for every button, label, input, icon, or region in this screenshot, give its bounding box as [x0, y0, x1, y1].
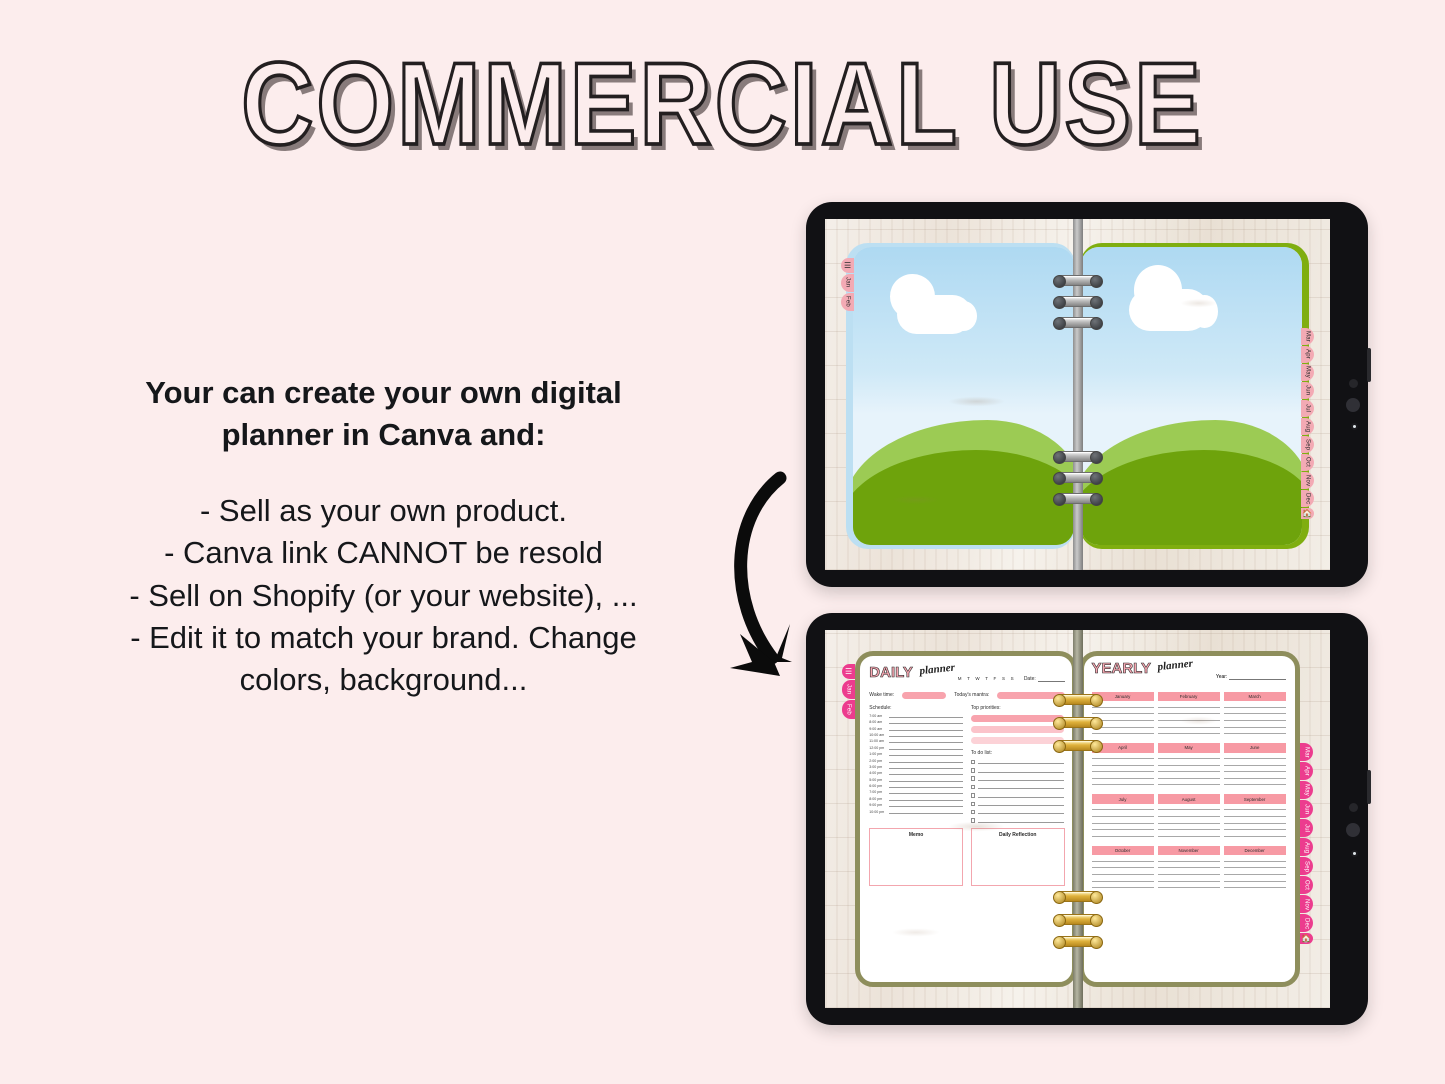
- schedule-line[interactable]: [889, 738, 963, 743]
- todo-row[interactable]: [971, 792, 1065, 797]
- month-line[interactable]: [1224, 875, 1286, 882]
- tab-jun[interactable]: Jun: [1301, 382, 1314, 399]
- copy-bullet-3: - Sell on Shopify (or your website), ...: [96, 575, 671, 617]
- todo-checkbox[interactable]: [971, 768, 976, 773]
- weekday-initials: M T W T F S S: [958, 665, 1016, 681]
- tab-nov[interactable]: Nov: [1301, 472, 1314, 489]
- month-line[interactable]: [1224, 779, 1286, 786]
- todo-line[interactable]: [978, 784, 1064, 789]
- schedule-row[interactable]: 10:00 am: [869, 732, 963, 737]
- month-line[interactable]: [1224, 772, 1286, 779]
- binder-ring: [1056, 740, 1100, 751]
- date-input-line[interactable]: [1038, 675, 1065, 682]
- month-line[interactable]: [1224, 830, 1286, 837]
- todo-checkbox[interactable]: [971, 818, 976, 823]
- tab-mar[interactable]: Mar: [1300, 743, 1313, 761]
- schedule-time: 11:00 am: [869, 739, 886, 743]
- memo-box[interactable]: Memo: [869, 828, 963, 886]
- tab-jul[interactable]: Jul: [1301, 400, 1314, 417]
- todo-row[interactable]: [971, 759, 1065, 764]
- month-line[interactable]: [1092, 824, 1154, 831]
- cover-page-right: [1081, 247, 1303, 545]
- binder-ring: [1056, 296, 1100, 307]
- month-line[interactable]: [1092, 882, 1154, 889]
- month-header: June: [1224, 743, 1286, 752]
- month-line[interactable]: [1158, 779, 1220, 786]
- copy-spacer: [96, 456, 671, 490]
- month-line[interactable]: [1224, 817, 1286, 824]
- planner-inner-spread: DAILY planner M T W T F S S Date: Wake t…: [825, 630, 1330, 1008]
- month-line[interactable]: [1092, 753, 1154, 760]
- month-header: December: [1224, 846, 1286, 855]
- schedule-time: 9:00 am: [869, 727, 886, 731]
- month-line[interactable]: [1224, 701, 1286, 708]
- month-line[interactable]: [1092, 817, 1154, 824]
- wake-and-mantra-row: Wake time: Today's mantra:: [869, 692, 1064, 699]
- yearly-wordmark: YEARLY planner: [1092, 661, 1188, 676]
- binder-ring: [1056, 891, 1100, 902]
- schedule-time: 7:00 pm: [869, 790, 886, 794]
- month-tabs-right-bottom[interactable]: Mar Apr May Jun Jul Aug Sep Oct Nov Dec …: [1300, 743, 1313, 944]
- copy-bullet-1: - Sell as your own product.: [96, 490, 671, 532]
- month-line[interactable]: [1158, 714, 1220, 721]
- schedule-time: 2:00 pm: [869, 759, 886, 763]
- binder-ring: [1056, 694, 1100, 705]
- month-line[interactable]: [1158, 708, 1220, 715]
- schedule-row[interactable]: 10:00 pm: [869, 808, 963, 813]
- month-line[interactable]: [1158, 728, 1220, 735]
- date-field[interactable]: Date:: [1024, 665, 1065, 682]
- month-header: March: [1224, 692, 1286, 701]
- led-indicator-top: [1351, 423, 1358, 430]
- tab-apr[interactable]: Apr: [1301, 346, 1314, 363]
- schedule-row[interactable]: 8:00 am: [869, 719, 963, 724]
- page-title: COMMERCIAL USE: [0, 38, 1445, 172]
- month-line[interactable]: [1092, 855, 1154, 862]
- tab-jun[interactable]: Jun: [1300, 800, 1313, 818]
- month-line[interactable]: [1224, 862, 1286, 869]
- month-line[interactable]: [1224, 753, 1286, 760]
- binder-ring: [1056, 493, 1100, 504]
- month-line[interactable]: [1224, 759, 1286, 766]
- schedule-time: 3:00 pm: [869, 765, 886, 769]
- todo-line[interactable]: [978, 818, 1064, 823]
- month-line[interactable]: [1158, 875, 1220, 882]
- todo-line[interactable]: [978, 767, 1064, 772]
- sensor-dot-top: [1349, 379, 1358, 388]
- priority-input[interactable]: [971, 715, 1065, 722]
- year-label: Year:: [1216, 674, 1228, 680]
- todo-line[interactable]: [978, 801, 1064, 806]
- binder-ring: [1056, 275, 1100, 286]
- schedule-time: 7:00 am: [869, 714, 886, 718]
- month-line[interactable]: [1092, 810, 1154, 817]
- month-line[interactable]: [1158, 766, 1220, 773]
- todo-checkbox[interactable]: [971, 760, 976, 765]
- schedule-row[interactable]: 11:00 am: [869, 738, 963, 743]
- month-line[interactable]: [1224, 721, 1286, 728]
- month-tabs-left-top[interactable]: ☰ Jan Feb: [841, 258, 854, 311]
- schedule-row[interactable]: 4:00 pm: [869, 770, 963, 775]
- quarter-row: July August September: [1092, 794, 1286, 836]
- schedule-row[interactable]: 9:00 pm: [869, 802, 963, 807]
- schedule-line[interactable]: [889, 802, 963, 807]
- yearly-title-main: YEARLY: [1092, 660, 1151, 677]
- tab-sep[interactable]: Sep: [1300, 857, 1313, 875]
- schedule-line[interactable]: [889, 745, 963, 750]
- month-header: July: [1092, 794, 1154, 803]
- tab-nov[interactable]: Nov: [1300, 895, 1313, 913]
- tablet-device-top[interactable]: ☰ Jan Feb Mar Apr May Jun Jul Aug Sep Oc…: [806, 202, 1368, 587]
- schedule-line[interactable]: [889, 732, 963, 737]
- daily-header: DAILY planner M T W T F S S Date:: [869, 661, 1064, 682]
- home-icon[interactable]: 🏠: [1300, 933, 1313, 944]
- month-line[interactable]: [1158, 701, 1220, 708]
- schedule-line[interactable]: [889, 783, 963, 788]
- camera-lens-bottom: [1346, 823, 1360, 837]
- schedule-line[interactable]: [889, 796, 963, 801]
- todo-line[interactable]: [978, 776, 1064, 781]
- daily-wordmark: DAILY planner: [869, 665, 949, 680]
- tab-apr[interactable]: Apr: [1300, 762, 1313, 780]
- marketing-copy: Your can create your own digital planner…: [96, 372, 671, 701]
- planner-spine-bottom: [1073, 630, 1083, 1008]
- binder-ring: [1056, 451, 1100, 462]
- month-line[interactable]: [1092, 868, 1154, 875]
- todo-line[interactable]: [978, 809, 1064, 814]
- tab-jan[interactable]: Jan: [841, 274, 854, 292]
- month-line[interactable]: [1092, 772, 1154, 779]
- schedule-time: 8:00 pm: [869, 797, 886, 801]
- month-header: October: [1092, 846, 1154, 855]
- schedule-row[interactable]: 12:00 pm: [869, 745, 963, 750]
- yearly-header: YEARLY planner Year:: [1092, 661, 1286, 680]
- tablet-screen-top[interactable]: ☰ Jan Feb Mar Apr May Jun Jul Aug Sep Oc…: [825, 219, 1330, 570]
- schedule-row[interactable]: 8:00 pm: [869, 796, 963, 801]
- month-line[interactable]: [1092, 759, 1154, 766]
- todo-row[interactable]: [971, 776, 1065, 781]
- quarter-row: October November December: [1092, 846, 1286, 888]
- copy-lead: Your can create your own digital planner…: [145, 375, 622, 452]
- todo-label: To do list:: [971, 750, 1065, 756]
- tab-sep[interactable]: Sep: [1301, 436, 1314, 453]
- month-cell[interactable]: May: [1158, 743, 1220, 785]
- todo-row[interactable]: [971, 818, 1065, 823]
- daily-title-main: DAILY: [869, 664, 913, 681]
- month-line[interactable]: [1092, 728, 1154, 735]
- tab-dec[interactable]: Dec: [1300, 914, 1313, 932]
- planner-cover-spread: ☰ Jan Feb Mar Apr May Jun Jul Aug Sep Oc…: [825, 219, 1330, 570]
- todo-row[interactable]: [971, 784, 1065, 789]
- sensor-dot-bottom: [1349, 803, 1358, 812]
- month-header: February: [1158, 692, 1220, 701]
- month-line[interactable]: [1092, 779, 1154, 786]
- todo-row[interactable]: [971, 801, 1065, 806]
- tab-oct[interactable]: Oct: [1301, 454, 1314, 471]
- month-header: August: [1158, 794, 1220, 803]
- month-line[interactable]: [1158, 817, 1220, 824]
- tab-may[interactable]: May: [1300, 781, 1313, 799]
- month-cell[interactable]: July: [1092, 794, 1154, 836]
- menu-icon[interactable]: ☰: [841, 258, 854, 273]
- camera-lens-top: [1346, 398, 1360, 412]
- schedule-time: 9:00 pm: [869, 803, 886, 807]
- date-label: Date:: [1024, 676, 1036, 682]
- cloud-icon-left-bump: [950, 301, 977, 331]
- schedule-time: 4:00 pm: [869, 771, 886, 775]
- month-header: September: [1224, 794, 1286, 803]
- month-line[interactable]: [1158, 772, 1220, 779]
- month-line[interactable]: [1092, 708, 1154, 715]
- tab-dec[interactable]: Dec: [1301, 490, 1314, 507]
- tab-mar[interactable]: Mar: [1301, 328, 1314, 345]
- year-field[interactable]: Year:: [1216, 661, 1286, 680]
- schedule-line[interactable]: [889, 777, 963, 782]
- menu-icon[interactable]: ☰: [842, 664, 855, 679]
- month-line[interactable]: [1158, 830, 1220, 837]
- schedule-line[interactable]: [889, 713, 963, 718]
- cloud-icon-right-small: [1134, 265, 1183, 316]
- month-line[interactable]: [1158, 753, 1220, 760]
- cloud-icon-right-bump: [1191, 295, 1218, 328]
- schedule-line[interactable]: [889, 764, 963, 769]
- schedule-line[interactable]: [889, 726, 963, 731]
- month-line[interactable]: [1224, 728, 1286, 735]
- quarter-row: April May June: [1092, 743, 1286, 785]
- binder-ring: [1056, 914, 1100, 925]
- tab-feb[interactable]: Feb: [841, 293, 854, 311]
- month-cell[interactable]: October: [1092, 846, 1154, 888]
- priorities-label: Top priorities:: [971, 705, 1065, 711]
- schedule-line[interactable]: [889, 757, 963, 762]
- tab-aug[interactable]: Aug: [1300, 838, 1313, 856]
- todo-row[interactable]: [971, 767, 1065, 772]
- schedule-row[interactable]: 1:00 pm: [869, 751, 963, 756]
- todo-checkbox[interactable]: [971, 785, 976, 790]
- todo-checkbox[interactable]: [971, 802, 976, 807]
- month-line[interactable]: [1158, 721, 1220, 728]
- schedule-row[interactable]: 2:00 pm: [869, 757, 963, 762]
- month-tabs-left-bottom[interactable]: ☰ Jan Feb: [842, 664, 855, 719]
- schedule-row[interactable]: 3:00 pm: [869, 764, 963, 769]
- mantra-label: Today's mantra:: [954, 692, 989, 698]
- schedule-time: 5:00 pm: [869, 778, 886, 782]
- month-tabs-right-top[interactable]: Mar Apr May Jun Jul Aug Sep Oct Nov Dec …: [1301, 328, 1314, 519]
- month-line[interactable]: [1158, 804, 1220, 811]
- month-cell[interactable]: December: [1224, 846, 1286, 888]
- month-line[interactable]: [1158, 824, 1220, 831]
- schedule-line[interactable]: [889, 719, 963, 724]
- schedule-row[interactable]: 5:00 pm: [869, 777, 963, 782]
- schedule-time: 6:00 pm: [869, 784, 886, 788]
- wake-time-input[interactable]: [902, 692, 946, 699]
- month-line[interactable]: [1092, 875, 1154, 882]
- schedule-row[interactable]: 9:00 am: [869, 726, 963, 731]
- binder-ring: [1056, 472, 1100, 483]
- month-cell[interactable]: August: [1158, 794, 1220, 836]
- todo-checkbox[interactable]: [971, 793, 976, 798]
- schedule-line[interactable]: [889, 808, 963, 813]
- month-cell[interactable]: September: [1224, 794, 1286, 836]
- schedule-time: 1:00 pm: [869, 752, 886, 756]
- daily-reflection-box[interactable]: Daily Reflection: [971, 828, 1065, 886]
- priority-input[interactable]: [971, 726, 1065, 733]
- cloud-icon-left-small: [890, 274, 934, 319]
- todo-line[interactable]: [978, 759, 1064, 764]
- yearly-planner-page[interactable]: YEARLY planner Year: January: [1079, 651, 1300, 987]
- tablet-screen-bottom[interactable]: DAILY planner M T W T F S S Date: Wake t…: [825, 630, 1330, 1008]
- led-indicator-bottom: [1351, 850, 1358, 857]
- schedule-label: Schedule:: [869, 705, 963, 711]
- copy-bullet-4: - Edit it to match your brand. Change co…: [96, 617, 671, 701]
- tab-feb[interactable]: Feb: [842, 700, 855, 719]
- daily-columns: Schedule: 7:00 am 8:00 am 9:00 am 10:00 …: [869, 705, 1064, 823]
- month-header: May: [1158, 743, 1220, 752]
- volume-button-bottom[interactable]: [1367, 770, 1371, 804]
- tab-jan[interactable]: Jan: [842, 680, 855, 699]
- schedule-time: 8:00 am: [869, 720, 886, 724]
- schedule-line[interactable]: [889, 770, 963, 775]
- quarter-row: January February March: [1092, 692, 1286, 734]
- month-line[interactable]: [1158, 862, 1220, 869]
- todo-line[interactable]: [978, 792, 1064, 797]
- month-line[interactable]: [1158, 810, 1220, 817]
- tablet-device-bottom[interactable]: DAILY planner M T W T F S S Date: Wake t…: [806, 613, 1368, 1025]
- month-line[interactable]: [1224, 824, 1286, 831]
- month-line[interactable]: [1224, 855, 1286, 862]
- month-line[interactable]: [1092, 766, 1154, 773]
- month-cell[interactable]: March: [1224, 692, 1286, 734]
- daily-title-script: planner: [919, 662, 955, 677]
- binder-ring: [1056, 317, 1100, 328]
- cover-page-left: [853, 247, 1075, 545]
- month-line[interactable]: [1224, 810, 1286, 817]
- priority-input[interactable]: [971, 737, 1065, 744]
- todo-row[interactable]: [971, 809, 1065, 814]
- schedule-row[interactable]: 7:00 am: [869, 713, 963, 718]
- month-line[interactable]: [1224, 714, 1286, 721]
- month-line[interactable]: [1224, 766, 1286, 773]
- notes-boxes: Memo Daily Reflection: [869, 828, 1064, 886]
- month-header: November: [1158, 846, 1220, 855]
- month-line[interactable]: [1224, 882, 1286, 889]
- schedule-line[interactable]: [889, 751, 963, 756]
- month-line[interactable]: [1092, 830, 1154, 837]
- month-cell[interactable]: June: [1224, 743, 1286, 785]
- schedule-row[interactable]: 7:00 pm: [869, 789, 963, 794]
- volume-button-top[interactable]: [1367, 348, 1371, 382]
- month-line[interactable]: [1158, 868, 1220, 875]
- month-line[interactable]: [1224, 708, 1286, 715]
- yearly-title-script: planner: [1157, 658, 1193, 673]
- tab-may[interactable]: May: [1301, 364, 1314, 381]
- schedule-time: 12:00 pm: [869, 746, 886, 750]
- month-line[interactable]: [1158, 759, 1220, 766]
- schedule-line[interactable]: [889, 789, 963, 794]
- tab-aug[interactable]: Aug: [1301, 418, 1314, 435]
- month-line[interactable]: [1092, 862, 1154, 869]
- schedule-row[interactable]: 6:00 pm: [869, 783, 963, 788]
- tab-jul[interactable]: Jul: [1300, 819, 1313, 837]
- binder-ring: [1056, 936, 1100, 947]
- home-icon[interactable]: 🏠: [1301, 508, 1314, 519]
- priorities-todo-column: Top priorities: To do list:: [971, 705, 1065, 823]
- month-line[interactable]: [1158, 882, 1220, 889]
- month-cell[interactable]: November: [1158, 846, 1220, 888]
- binder-ring: [1056, 717, 1100, 728]
- copy-bullet-2: - Canva link CANNOT be resold: [96, 532, 671, 574]
- year-input-line[interactable]: [1229, 673, 1285, 680]
- month-line[interactable]: [1224, 804, 1286, 811]
- tab-oct[interactable]: Oct: [1300, 876, 1313, 894]
- todo-checkbox[interactable]: [971, 776, 976, 781]
- daily-planner-page[interactable]: DAILY planner M T W T F S S Date: Wake t…: [855, 651, 1076, 987]
- planner-spine-top: [1073, 219, 1083, 570]
- wake-time-label: Wake time:: [869, 692, 894, 698]
- todo-checkbox[interactable]: [971, 810, 976, 815]
- month-line[interactable]: [1224, 868, 1286, 875]
- month-line[interactable]: [1092, 804, 1154, 811]
- schedule-column: Schedule: 7:00 am 8:00 am 9:00 am 10:00 …: [869, 705, 963, 823]
- poster-root: COMMERCIAL USE Your can create your own …: [0, 0, 1445, 1084]
- month-line[interactable]: [1158, 855, 1220, 862]
- schedule-time: 10:00 am: [869, 733, 886, 737]
- schedule-time: 10:00 pm: [869, 810, 886, 814]
- month-cell[interactable]: February: [1158, 692, 1220, 734]
